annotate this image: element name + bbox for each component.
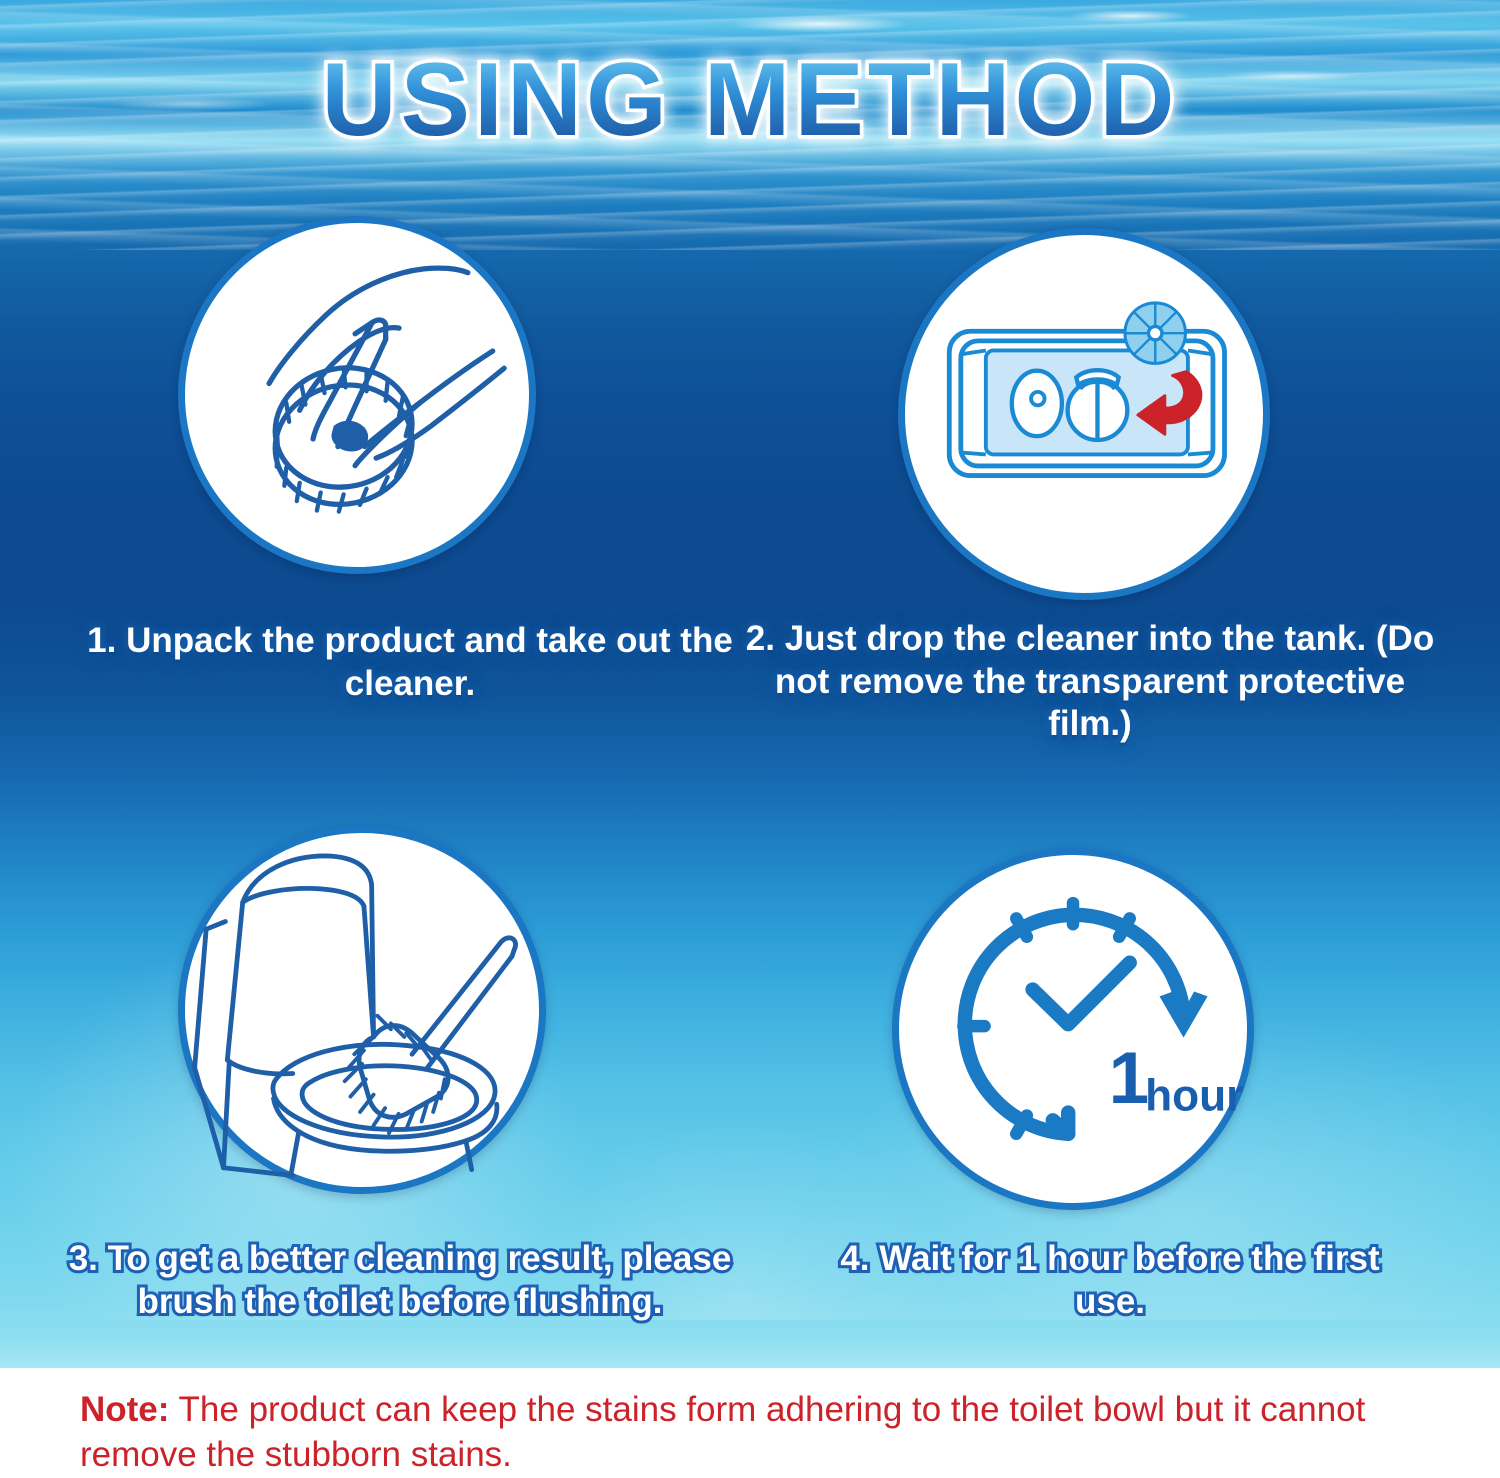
step-4-caption: 4. Wait for 1 hour before the first use.	[810, 1238, 1410, 1323]
clock-badge-unit: hour	[1145, 1072, 1243, 1121]
step-3-caption: 3. To get a better cleaning result, plea…	[20, 1238, 780, 1323]
page-title: USING METHOD	[0, 48, 1500, 152]
step-3-icon-circle	[178, 826, 546, 1194]
step-2-caption: 2. Just drop the cleaner into the tank. …	[740, 618, 1440, 746]
toilet-tank-drop-icon	[905, 235, 1263, 593]
clock-badge-value: 1	[1109, 1038, 1150, 1119]
step-4-icon-circle: 1 hour	[892, 848, 1254, 1210]
infographic-canvas: USING METHOD USING METHOD	[0, 0, 1500, 1478]
clock-one-hour-icon: 1 hour	[899, 855, 1247, 1203]
note-label: Note:	[80, 1390, 169, 1429]
title-block: USING METHOD USING METHOD	[0, 0, 1500, 180]
step-1-caption: 1. Unpack the product and take out the c…	[60, 620, 760, 705]
step-2-icon-circle	[898, 228, 1270, 600]
note-body: The product can keep the stains form adh…	[80, 1390, 1365, 1474]
step-1-icon-circle	[178, 216, 536, 574]
toilet-brush-icon	[185, 833, 539, 1187]
note-text: Note: The product can keep the stains fo…	[80, 1388, 1440, 1478]
hand-holding-tablet-icon	[185, 223, 529, 567]
